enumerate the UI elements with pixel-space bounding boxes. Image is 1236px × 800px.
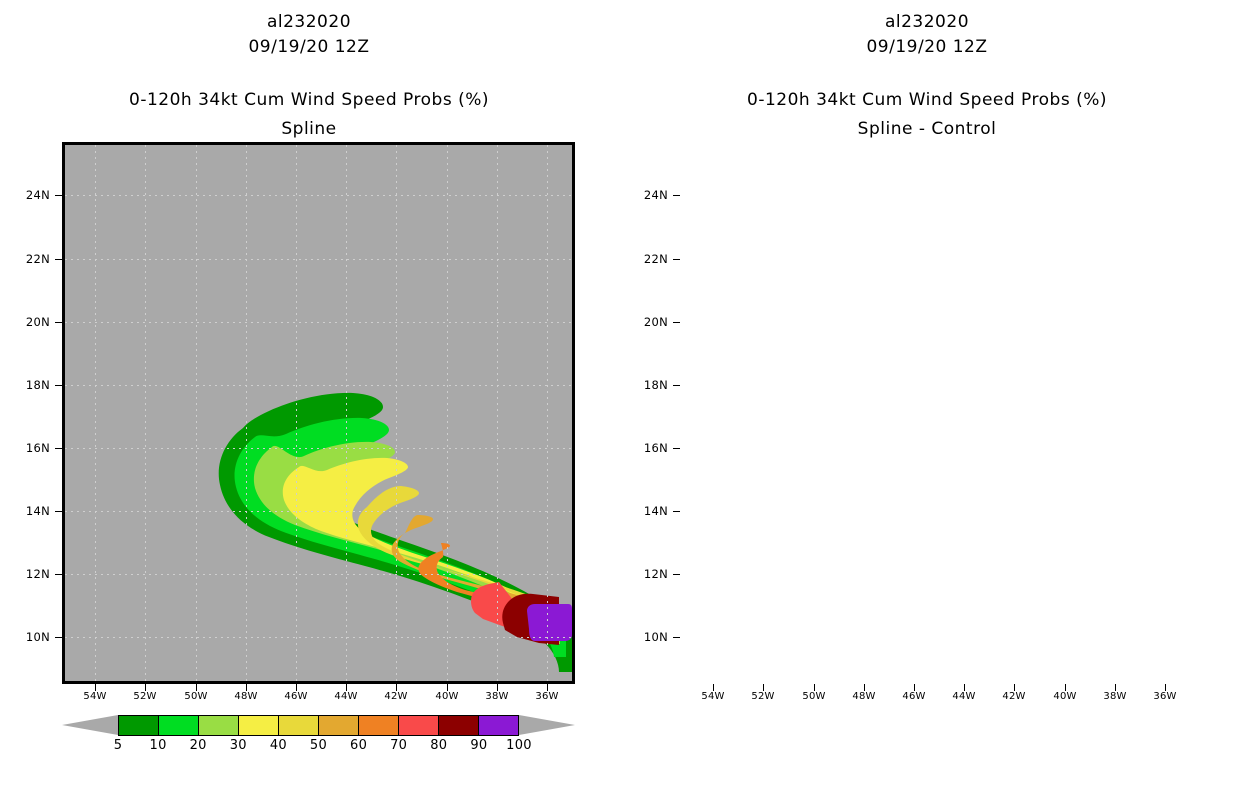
storm-id-right: al232020: [618, 12, 1236, 32]
colorbar-tick-label: 20: [178, 738, 218, 753]
colorbar-left: 5102030405060708090100: [62, 715, 575, 760]
y-axis-label: 18N: [626, 378, 668, 392]
y-axis-label: 12N: [8, 567, 50, 581]
colorbar-tick-label: 90: [459, 738, 499, 753]
datetime-left: 09/19/20 12Z: [0, 37, 618, 57]
panel-spline-minus-control: al232020 09/19/20 12Z 0-120h 34kt Cum Wi…: [618, 0, 1236, 800]
x-axis-tick: [1115, 684, 1116, 691]
colorbar-segment: [158, 715, 198, 736]
x-axis-tick: [914, 684, 915, 691]
x-axis-tick: [145, 684, 146, 691]
y-axis-tick: [55, 637, 62, 638]
y-axis-label: 12N: [626, 567, 668, 581]
y-axis-tick: [55, 448, 62, 449]
y-axis-label: 24N: [626, 188, 668, 202]
x-axis-tick: [1165, 684, 1166, 691]
colorbar-left-strip: [118, 715, 519, 736]
y-axis-label: 10N: [8, 630, 50, 644]
y-axis-label: 10N: [626, 630, 668, 644]
x-axis-label: 40W: [425, 691, 469, 702]
storm-id-left: al232020: [0, 12, 618, 32]
x-axis-label: 42W: [992, 691, 1036, 702]
y-axis-tick: [55, 385, 62, 386]
y-axis-label: 16N: [626, 441, 668, 455]
datetime-right: 09/19/20 12Z: [618, 37, 1236, 57]
y-axis-label: 18N: [8, 378, 50, 392]
x-axis-label: 52W: [741, 691, 785, 702]
y-axis-tick: [55, 511, 62, 512]
colorbar-segment: [358, 715, 398, 736]
x-axis-label: 44W: [324, 691, 368, 702]
y-axis-label: 16N: [8, 441, 50, 455]
x-axis-tick: [1014, 684, 1015, 691]
y-axis-tick: [673, 385, 680, 386]
y-axis-tick: [673, 322, 680, 323]
y-axis-tick: [673, 637, 680, 638]
colorbar-segment: [478, 715, 519, 736]
y-axis-tick: [55, 322, 62, 323]
x-axis-label: 50W: [792, 691, 836, 702]
colorbar-over-arrow: [519, 715, 575, 735]
x-axis-tick: [864, 684, 865, 691]
y-axis-label: 20N: [626, 315, 668, 329]
colorbar-tick-label: 5: [98, 738, 138, 753]
x-axis-label: 38W: [1093, 691, 1137, 702]
colorbar-tick-label: 10: [138, 738, 178, 753]
x-axis-label: 42W: [374, 691, 418, 702]
x-axis-label: 54W: [73, 691, 117, 702]
x-axis-tick: [95, 684, 96, 691]
colorbar-segment: [438, 715, 478, 736]
x-axis-tick: [547, 684, 548, 691]
colorbar-segment: [118, 715, 158, 736]
x-axis-tick: [396, 684, 397, 691]
contour-field-spline: [65, 145, 572, 681]
colorbar-under-arrow: [62, 715, 118, 735]
chart-subtitle-left: Spline: [0, 119, 618, 139]
x-axis-label: 38W: [475, 691, 519, 702]
x-axis-tick: [296, 684, 297, 691]
y-axis-label: 20N: [8, 315, 50, 329]
colorbar-left-ticklabels: 5102030405060708090100: [62, 738, 575, 760]
map-plot-spline[interactable]: [62, 142, 575, 684]
y-axis-tick: [673, 195, 680, 196]
chart-subtitle-right: Spline - Control: [618, 119, 1236, 139]
x-axis-tick: [346, 684, 347, 691]
y-axis-tick: [673, 511, 680, 512]
colorbar-tick-label: 80: [419, 738, 459, 753]
y-axis-tick: [673, 259, 680, 260]
x-axis-label: 50W: [174, 691, 218, 702]
y-axis-tick: [55, 195, 62, 196]
x-axis-label: 48W: [842, 691, 886, 702]
y-axis-label: 22N: [8, 252, 50, 266]
x-axis-tick: [814, 684, 815, 691]
chart-title-left: 0-120h 34kt Cum Wind Speed Probs (%): [0, 90, 618, 110]
colorbar-tick-label: 70: [379, 738, 419, 753]
y-axis-tick: [55, 574, 62, 575]
x-axis-tick: [713, 684, 714, 691]
colorbar-segment: [278, 715, 318, 736]
x-axis-label: 48W: [224, 691, 268, 702]
x-axis-label: 40W: [1043, 691, 1087, 702]
x-axis-label: 52W: [123, 691, 167, 702]
chart-title-right: 0-120h 34kt Cum Wind Speed Probs (%): [618, 90, 1236, 110]
contour-band-90: [527, 604, 572, 641]
panel-spline: al232020 09/19/20 12Z 0-120h 34kt Cum Wi…: [0, 0, 618, 800]
x-axis-label: 46W: [892, 691, 936, 702]
colorbar-segment: [398, 715, 438, 736]
x-axis-tick: [196, 684, 197, 691]
x-axis-label: 36W: [525, 691, 569, 702]
y-axis-label: 14N: [8, 504, 50, 518]
colorbar-segment: [238, 715, 278, 736]
x-axis-tick: [447, 684, 448, 691]
x-axis-label: 46W: [274, 691, 318, 702]
y-axis-tick: [55, 259, 62, 260]
x-axis-label: 44W: [942, 691, 986, 702]
y-axis-label: 14N: [626, 504, 668, 518]
x-axis-tick: [497, 684, 498, 691]
x-axis-tick: [1065, 684, 1066, 691]
colorbar-tick-label: 100: [499, 738, 539, 753]
y-axis-tick: [673, 448, 680, 449]
y-axis-label: 24N: [8, 188, 50, 202]
y-axis-label: 22N: [626, 252, 668, 266]
y-axis-tick: [673, 574, 680, 575]
colorbar-tick-label: 60: [339, 738, 379, 753]
x-axis-tick: [763, 684, 764, 691]
colorbar-tick-label: 40: [258, 738, 298, 753]
x-axis-label: 54W: [691, 691, 735, 702]
x-axis-tick: [964, 684, 965, 691]
colorbar-segment: [198, 715, 238, 736]
x-axis-tick: [246, 684, 247, 691]
colorbar-segment: [318, 715, 358, 736]
colorbar-tick-label: 30: [218, 738, 258, 753]
x-axis-label: 36W: [1143, 691, 1187, 702]
colorbar-tick-label: 50: [299, 738, 339, 753]
